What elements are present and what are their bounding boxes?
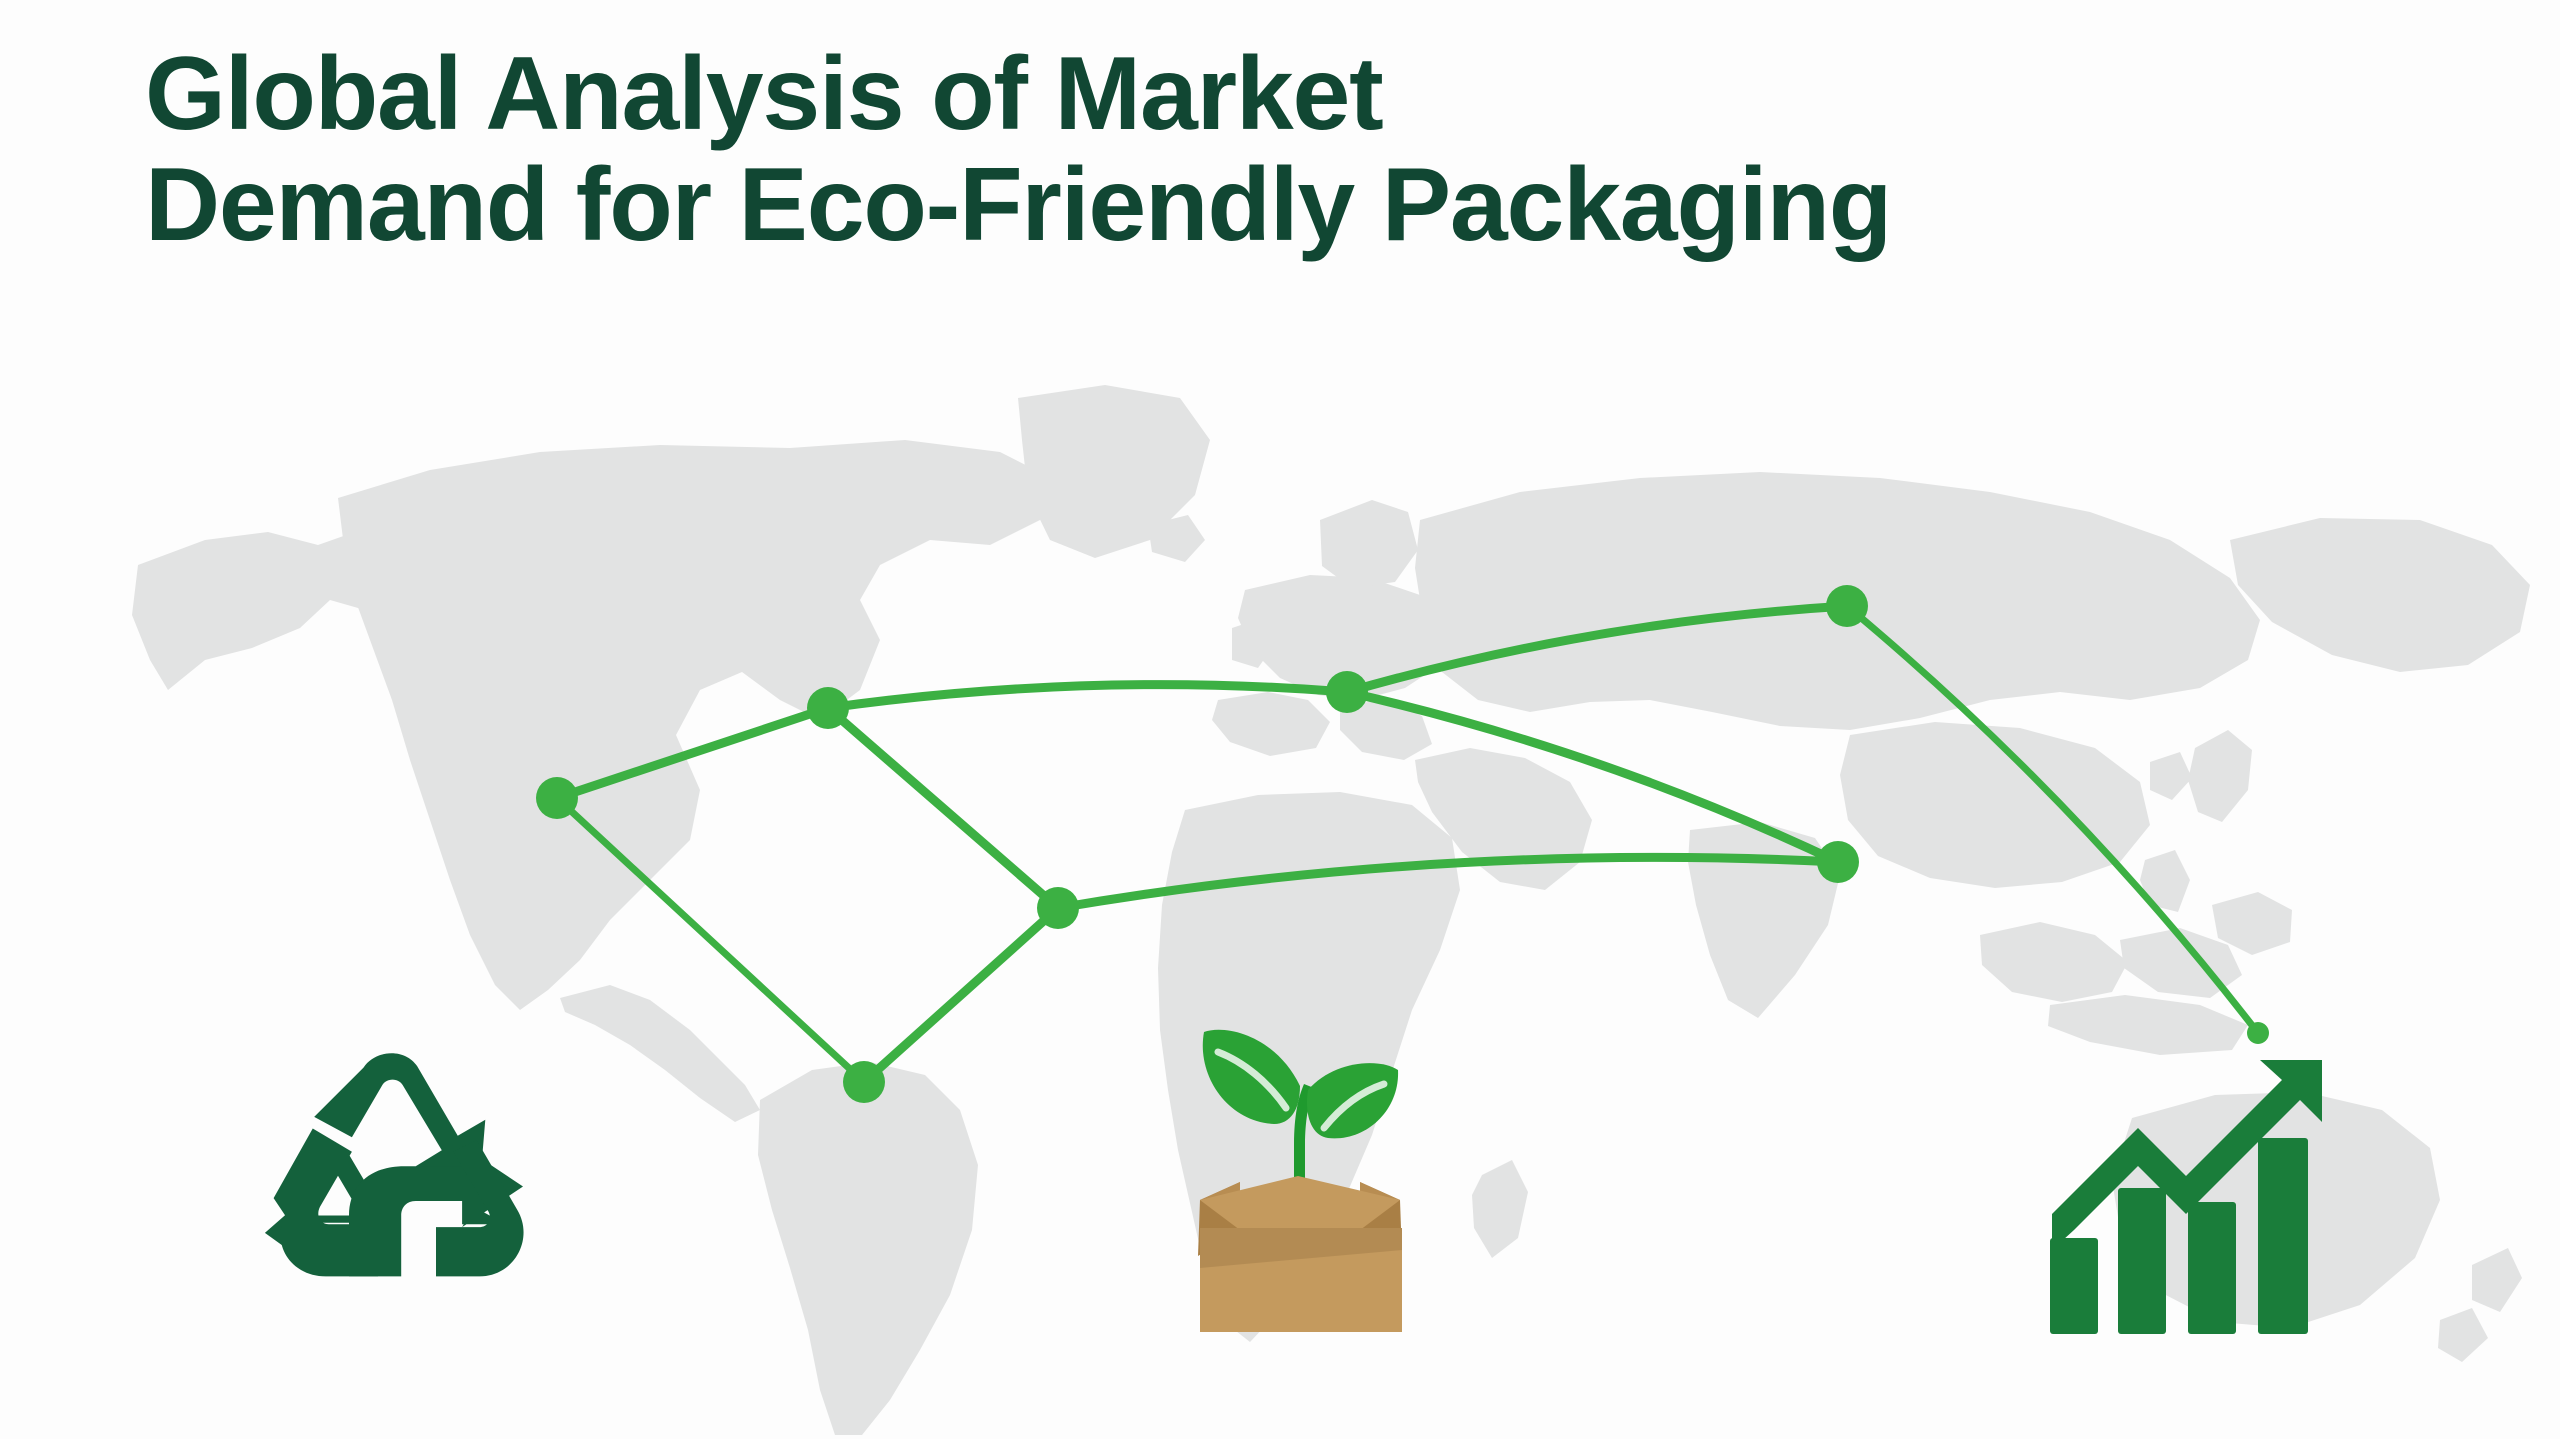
network-links [557,606,2258,1082]
network-link [828,685,1347,708]
title-line-2: Demand for Eco-Friendly Packaging [145,153,2475,258]
network-link [828,708,1058,908]
infographic-banner: Global Analysis of Market Demand for Eco… [0,0,2560,1439]
growth-chart-icon-svg [2050,1020,2360,1340]
network-node[interactable] [1826,585,1868,627]
growth-bar-3 [2188,1202,2236,1334]
page-title: Global Analysis of Market Demand for Eco… [145,42,2475,258]
network-link [864,908,1058,1082]
title-line-1: Global Analysis of Market [145,42,2475,147]
network-link [1058,857,1838,908]
network-link [1347,606,1847,692]
recycle-arrows [265,1053,524,1276]
network-node[interactable] [1817,841,1859,883]
network-link [557,798,864,1082]
box-with-plant-icon [1148,1018,1448,1340]
network-node[interactable] [536,777,578,819]
network-node[interactable] [843,1061,885,1103]
network-link [1347,692,1838,862]
growth-bar-4 [2258,1138,2308,1334]
box-top-opening [1200,1176,1400,1230]
recycle-icon [262,1022,552,1322]
box-plant-icon-svg [1148,1018,1448,1340]
network-node[interactable] [1037,887,1079,929]
network-node[interactable] [807,687,849,729]
growth-chart-shapes [2050,1060,2322,1334]
network-node[interactable] [1326,671,1368,713]
growth-bar-2 [2118,1188,2166,1334]
growth-bar-1 [2050,1238,2098,1334]
growth-chart-icon [2050,1020,2360,1340]
network-link [557,708,828,798]
recycle-icon-svg [262,1022,552,1322]
network-link [1847,606,2258,1033]
